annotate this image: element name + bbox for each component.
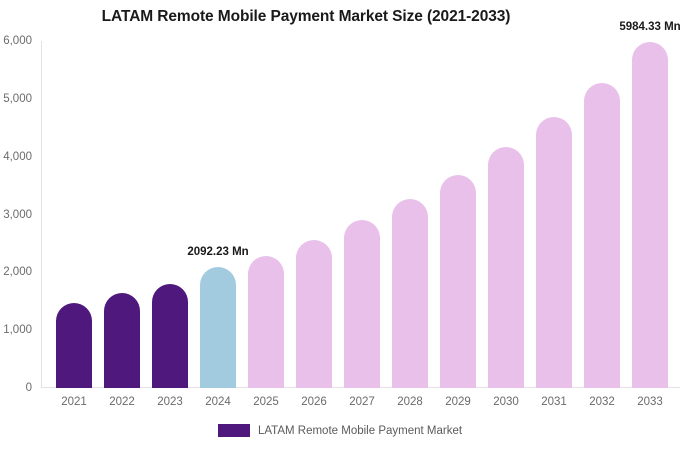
bar[interactable] (632, 42, 668, 388)
x-axis-tick-label: 2031 (541, 396, 567, 408)
x-axis-tick-label: 2028 (397, 396, 423, 408)
y-axis-line (41, 41, 42, 388)
x-axis-tick-label: 2027 (349, 396, 375, 408)
x-axis-tick-label: 2030 (493, 396, 519, 408)
y-axis-tick-label: 0 (26, 382, 32, 394)
y-axis-tick-label: 4,000 (3, 151, 32, 163)
bar[interactable] (536, 117, 572, 388)
bar[interactable] (200, 267, 236, 388)
x-axis-tick-label: 2024 (205, 396, 231, 408)
y-axis-tick-label: 2,000 (3, 266, 32, 278)
x-axis-tick-label: 2033 (637, 396, 663, 408)
x-axis-tick-label: 2026 (301, 396, 327, 408)
x-axis-tick-label: 2029 (445, 396, 471, 408)
y-axis-tick-label: 5,000 (3, 93, 32, 105)
bar[interactable] (584, 83, 620, 388)
data-label: 2092.23 Mn (187, 246, 248, 258)
bar[interactable] (248, 256, 284, 388)
y-axis-tick-label: 3,000 (3, 209, 32, 221)
x-axis-tick-label: 2023 (157, 396, 183, 408)
x-axis-tick-label: 2022 (109, 396, 135, 408)
x-axis-tick-label: 2025 (253, 396, 279, 408)
bar[interactable] (392, 199, 428, 388)
x-axis-tick-label: 2032 (589, 396, 615, 408)
bar[interactable] (344, 220, 380, 388)
bar[interactable] (56, 303, 92, 388)
bar[interactable] (152, 284, 188, 388)
bar[interactable] (104, 293, 140, 388)
bar-chart: LATAM Remote Mobile Payment Market Size … (0, 0, 680, 450)
legend-label: LATAM Remote Mobile Payment Market (258, 425, 462, 437)
data-label: 5984.33 Mn (619, 21, 680, 33)
plot-area: 01,0002,0003,0004,0005,0006,000 2092.23 … (41, 41, 680, 388)
bar[interactable] (440, 175, 476, 388)
legend-color-swatch (218, 424, 250, 437)
y-axis-tick-label: 1,000 (3, 324, 32, 336)
bar[interactable] (488, 147, 524, 388)
chart-legend: LATAM Remote Mobile Payment Market (0, 424, 680, 437)
legend-item[interactable]: LATAM Remote Mobile Payment Market (218, 424, 462, 437)
y-axis-tick-label: 6,000 (3, 35, 32, 47)
bar[interactable] (296, 240, 332, 388)
chart-title: LATAM Remote Mobile Payment Market Size … (0, 8, 612, 26)
x-axis-tick-label: 2021 (61, 396, 87, 408)
